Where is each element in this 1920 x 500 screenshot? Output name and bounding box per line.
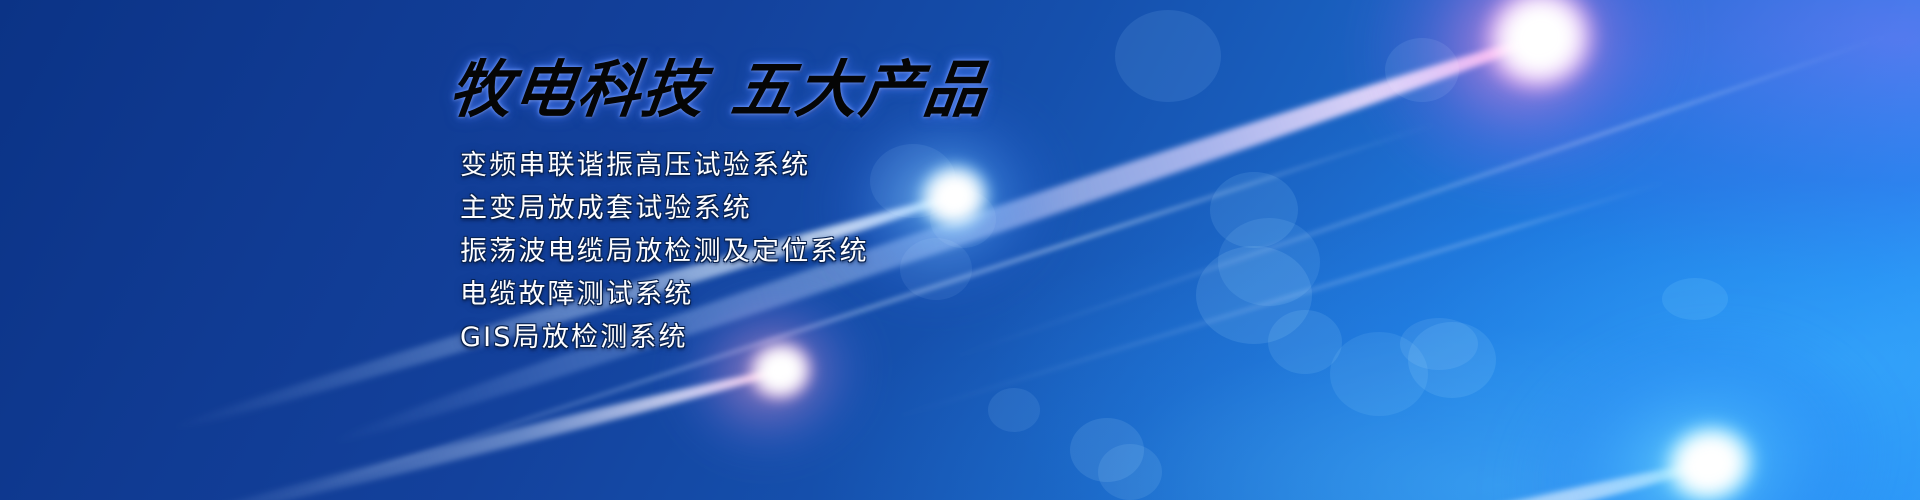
brand-title-part1: 牧电科技 <box>446 53 711 126</box>
list-item: 变频串联谐振高压试验系统 <box>460 144 1160 187</box>
list-item: GIS局放检测系统 <box>460 316 1160 359</box>
banner-content: 牧电科技五大产品 变频串联谐振高压试验系统 主变局放成套试验系统 振荡波电缆局放… <box>0 0 1920 500</box>
promo-banner: 牧电科技五大产品 变频串联谐振高压试验系统 主变局放成套试验系统 振荡波电缆局放… <box>0 0 1920 500</box>
list-item: 电缆故障测试系统 <box>460 273 1160 316</box>
list-item: 主变局放成套试验系统 <box>460 187 1160 230</box>
list-item: 振荡波电缆局放检测及定位系统 <box>460 230 1160 273</box>
product-list: 变频串联谐振高压试验系统 主变局放成套试验系统 振荡波电缆局放检测及定位系统 电… <box>460 144 1160 359</box>
brand-title-part2: 五大产品 <box>728 53 993 126</box>
page-title: 牧电科技五大产品 <box>445 52 974 128</box>
